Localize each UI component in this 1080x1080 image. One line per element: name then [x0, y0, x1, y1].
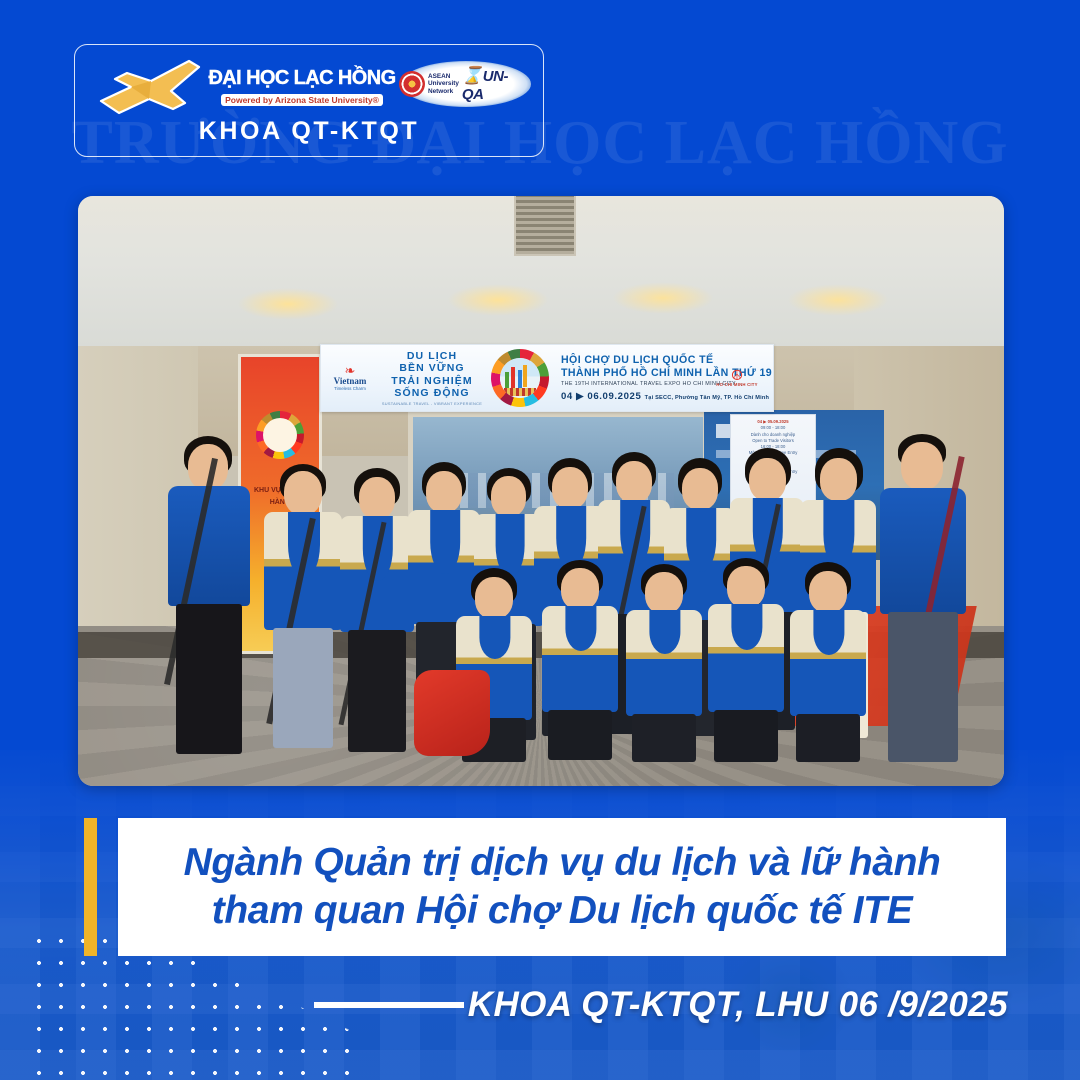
person-back-3 [340, 468, 416, 764]
header-badge: ĐẠI HỌC LẠC HỒNG Powered by Arizona Stat… [74, 44, 544, 157]
aun-qa-label: ⌛UN-QA [462, 66, 529, 103]
footer-rule [314, 1002, 464, 1008]
person-front-2 [542, 560, 620, 764]
person-front-3 [626, 564, 704, 766]
person-back-1 [166, 436, 252, 766]
person-back-2 [264, 464, 344, 764]
person-back-11 [878, 434, 968, 774]
person-front-5 [790, 562, 868, 766]
event-photo: KHU VỰC GIAN HÀNG KẾT NỐI 04 ▶ 05.09.202… [78, 196, 1004, 786]
plane-arrow-icon [93, 57, 213, 117]
hourglass-icon: ⌛ [462, 66, 483, 85]
faculty-label: KHOA QT-KTQT [75, 117, 543, 146]
university-name: ĐẠI HỌC LẠC HỒNG [207, 67, 397, 90]
powered-by-label: Powered by Arizona State University® [221, 94, 383, 106]
caption-line-2: tham quan Hội chợ Du lịch quốc tế ITE [212, 887, 912, 935]
footer-credit: KHOA QT-KTQT, LHU 06 /9/2025 [0, 980, 1080, 1030]
caption-line-1: Ngành Quản trị dịch vụ du lịch và lữ hàn… [184, 839, 941, 887]
aun-qa-logo: ASEAN University Network ⌛UN-QA [401, 61, 531, 107]
university-logotype: ĐẠI HỌC LẠC HỒNG Powered by Arizona Stat… [207, 67, 397, 108]
person-front-4 [708, 558, 786, 766]
aun-network-words: ASEAN University Network [428, 73, 459, 95]
asean-seal-icon [399, 71, 425, 97]
caption-accent-bar [84, 818, 97, 956]
caption-box: Ngành Quản trị dịch vụ du lịch và lữ hàn… [118, 818, 1006, 956]
red-jacket [414, 670, 490, 756]
student-group [78, 196, 1004, 786]
footer-credit-text: KHOA QT-KTQT, LHU 06 /9/2025 [468, 985, 1008, 1025]
header-logo-row: ĐẠI HỌC LẠC HỒNG Powered by Arizona Stat… [75, 51, 543, 117]
